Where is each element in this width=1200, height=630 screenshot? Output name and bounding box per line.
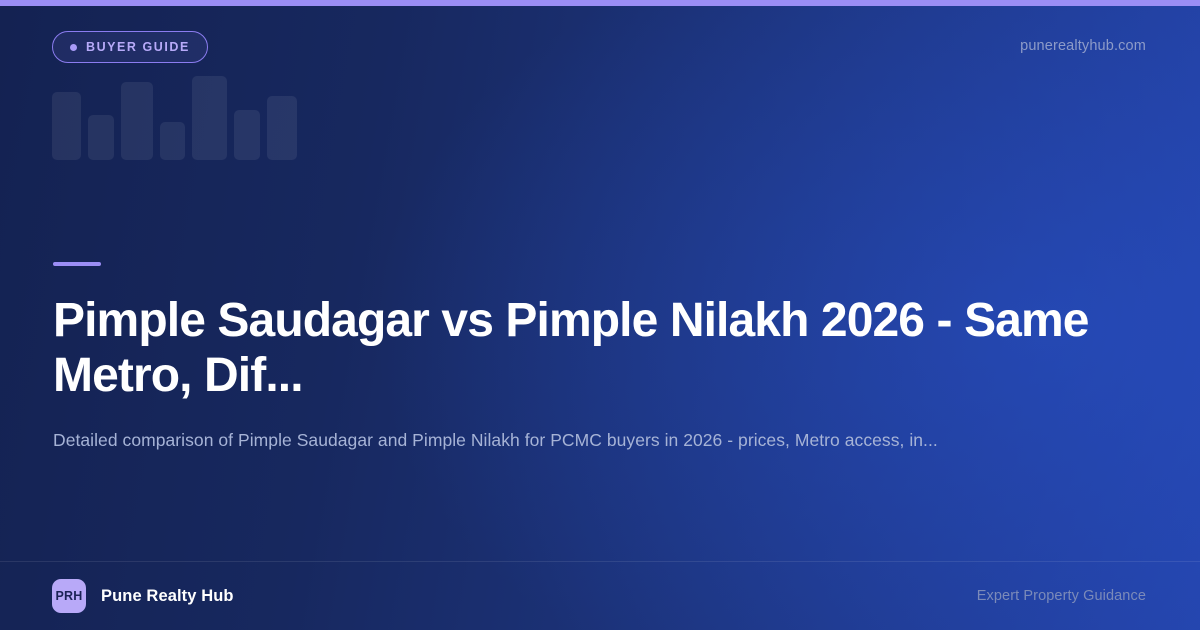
badge-label: BUYER GUIDE: [86, 40, 190, 54]
brand-lockup[interactable]: PRH Pune Realty Hub: [52, 579, 234, 613]
footer-tagline: Expert Property Guidance: [977, 588, 1146, 604]
chart-bar-3: [121, 82, 153, 160]
title-accent-rule: [53, 262, 101, 266]
brand-logo: PRH: [52, 579, 86, 613]
top-accent-bar: [0, 0, 1200, 6]
chart-bar-2: [88, 115, 114, 160]
brand-name: Pune Realty Hub: [101, 587, 234, 606]
dot-icon: [70, 44, 77, 51]
site-domain: punerealtyhub.com: [1020, 38, 1146, 54]
chart-bar-1: [52, 92, 81, 160]
buyer-guide-badge[interactable]: BUYER GUIDE: [52, 31, 208, 63]
chart-bar-6: [234, 110, 260, 160]
chart-bar-7: [267, 96, 297, 160]
decorative-bar-chart: [52, 76, 302, 160]
page-subtitle: Detailed comparison of Pimple Saudagar a…: [53, 427, 1073, 453]
title-block: Pimple Saudagar vs Pimple Nilakh 2026 - …: [53, 262, 1123, 454]
chart-bar-4: [160, 122, 185, 160]
footer: PRH Pune Realty Hub Expert Property Guid…: [0, 562, 1200, 630]
chart-bar-5: [192, 76, 227, 160]
page-title: Pimple Saudagar vs Pimple Nilakh 2026 - …: [53, 294, 1099, 403]
social-share-card: BUYER GUIDE punerealtyhub.com Pimple Sau…: [0, 0, 1200, 630]
